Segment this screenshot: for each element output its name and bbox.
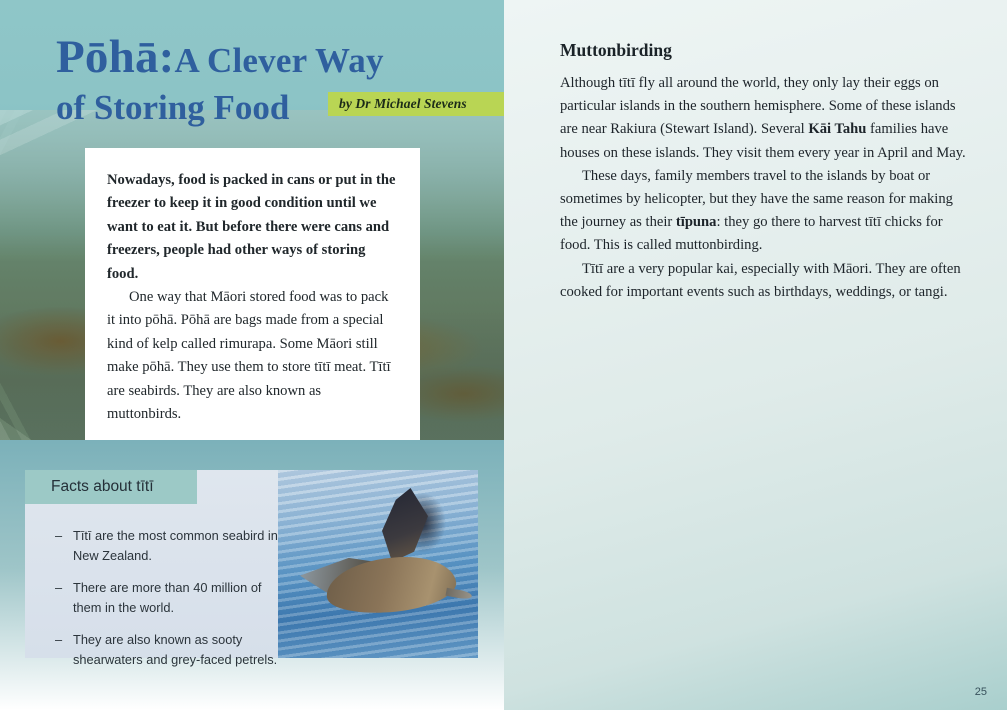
shearwater-photo xyxy=(278,470,478,658)
facts-list: Tītī are the most common seabird in New … xyxy=(25,504,285,670)
page-number: 25 xyxy=(975,686,987,698)
bird-beak xyxy=(446,588,473,600)
paragraph-2: These days, family members travel to the… xyxy=(560,165,968,258)
facts-box: Facts about tītī Tītī are the most commo… xyxy=(25,470,478,658)
right-page: Muttonbirding Although tītī fly all arou… xyxy=(504,0,1007,710)
left-page: Pōhā:A Clever Way of Storing Food by Dr … xyxy=(0,0,504,710)
section-heading: Muttonbirding xyxy=(560,40,672,61)
list-item: There are more than 40 million of them i… xyxy=(25,578,285,618)
list-item: They are also known as sooty shearwaters… xyxy=(25,630,285,670)
paragraph-1: Although tītī fly all around the world, … xyxy=(560,72,968,165)
book-spread: Pōhā:A Clever Way of Storing Food by Dr … xyxy=(0,0,1007,710)
right-body-text: Although tītī fly all around the world, … xyxy=(560,72,968,304)
title-subtitle: A Clever Way xyxy=(175,41,384,80)
paragraph-3: Tītī are a very popular kai, especially … xyxy=(560,258,968,304)
title-line-1: Pōhā:A Clever Way xyxy=(56,34,504,81)
title-line-2-text: of Storing Food xyxy=(56,90,289,125)
bird-upper-wing xyxy=(382,488,428,562)
article-title: Pōhā:A Clever Way of Storing Food xyxy=(56,34,504,125)
facts-box-heading: Facts about tītī xyxy=(25,478,154,496)
title-word-poha: Pōhā: xyxy=(56,31,175,83)
facts-box-header: Facts about tītī xyxy=(25,470,197,504)
title-line-2: of Storing Food xyxy=(56,90,504,125)
list-item: Tītī are the most common seabird in New … xyxy=(25,526,285,566)
body-paragraph: One way that Māori stored food was to pa… xyxy=(85,286,420,426)
intro-paragraph: Nowadays, food is packed in cans or put … xyxy=(85,148,420,286)
left-text-panel: Nowadays, food is packed in cans or put … xyxy=(85,148,420,440)
